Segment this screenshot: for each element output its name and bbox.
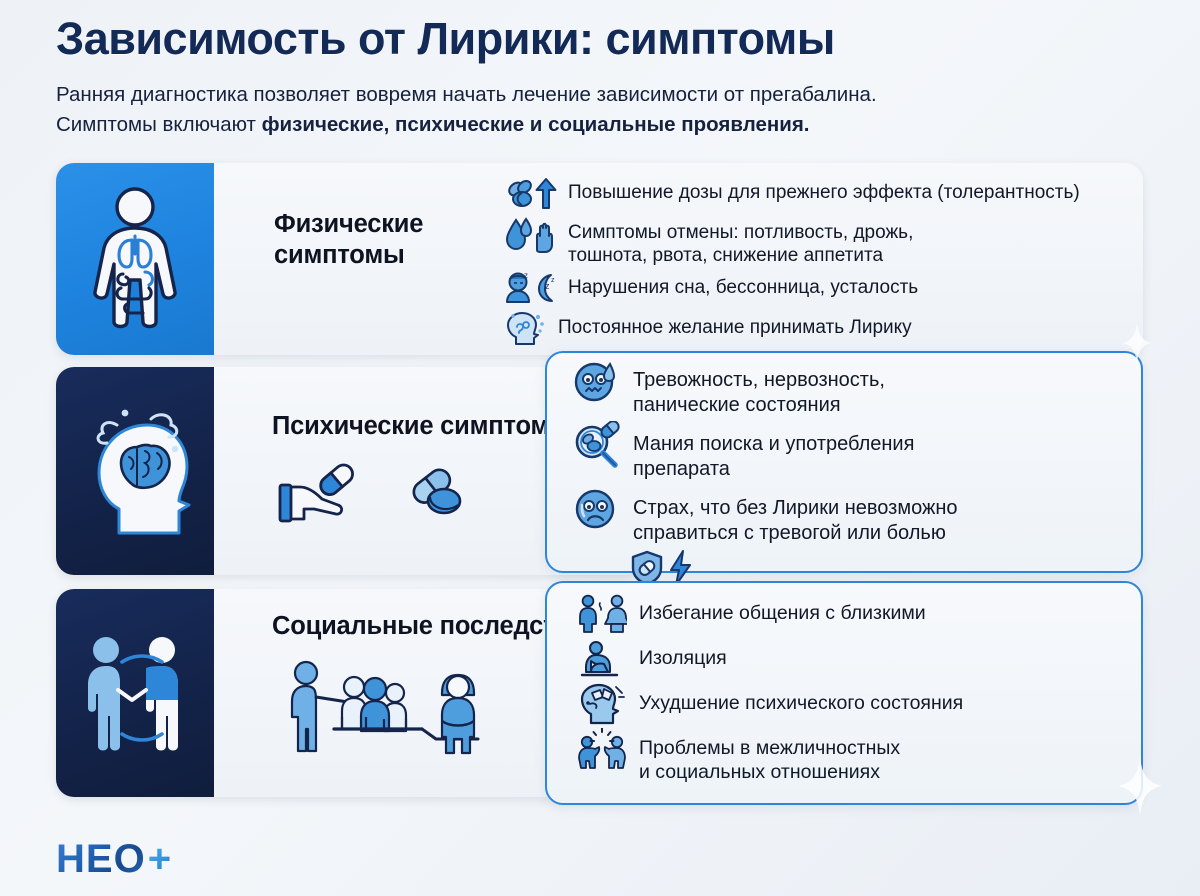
head-shattered-mind-icon (575, 685, 629, 723)
brand-logo: НЕО + (56, 837, 171, 882)
man-avoiding-woman-icon (575, 595, 629, 633)
list-item-text: Симптомы отмены: потливость, дрожь, тошн… (568, 215, 913, 269)
physical-heading-box: Физические симптомы (274, 209, 504, 271)
social-icon-panel (56, 589, 214, 797)
list-item: Симптомы отмены: потливость, дрожь, тошн… (504, 215, 1135, 269)
list-item-text: Изоляция (639, 640, 727, 670)
list-item-text: Избегание общения с близкими (639, 595, 926, 625)
mental-mini-icons (274, 459, 470, 530)
cards-container: Физические симптомы (0, 155, 1200, 815)
svg-text:z: z (545, 281, 550, 291)
physical-symptom-list: Повышение дозы для прежнего эффекта (тол… (504, 175, 1135, 351)
list-item: Страх, что без Лирики невозможно справит… (569, 490, 1127, 546)
two-people-conflict-icon (575, 730, 629, 768)
list-item: Ухудшение психического состояния (575, 685, 1127, 723)
person-sitting-alone-icon (575, 640, 629, 678)
list-item-text: Проблемы в межличностных и социальных от… (639, 730, 900, 785)
list-item-text: Мания поиска и употребления препарата (633, 426, 914, 482)
mental-heading: Психические симптомы (272, 411, 571, 442)
worried-face-icon (569, 490, 623, 528)
physical-heading: Физические симптомы (274, 209, 504, 271)
svg-text:z: z (551, 277, 555, 284)
list-item: Повышение дозы для прежнего эффекта (тол… (504, 175, 1135, 213)
mental-icon-panel (56, 367, 214, 575)
list-item: Избегание общения с близкими (575, 595, 1127, 633)
social-consequences-list-panel: Избегание общения с близкими Изоляция (545, 581, 1143, 805)
hand-with-capsule-icon (274, 459, 370, 530)
mental-symptom-list-panel: Тревожность, нервозность, панические сос… (545, 351, 1143, 573)
page-subtitle: Ранняя диагностика позволяет вовремя нач… (56, 80, 1144, 138)
list-item-text: Тревожность, нервозность, панические сос… (633, 362, 885, 418)
list-item: Проблемы в межличностных и социальных от… (575, 730, 1127, 785)
two-people-connection-icon (76, 628, 194, 758)
mental-heading-box: Психические симптомы (272, 411, 571, 442)
head-brain-icon (79, 401, 191, 541)
list-item-text: Ухудшение психического состояния (639, 685, 963, 715)
anxious-face-sweat-icon (569, 362, 623, 400)
list-item: Мания поиска и употребления препарата (569, 426, 1127, 482)
page-title: Зависимость от Лирики: симптомы (56, 14, 1144, 64)
list-item-text: Страх, что без Лирики невозможно справит… (633, 490, 958, 546)
logo-plus-icon: + (148, 837, 171, 882)
pills-cluster-icon (404, 463, 470, 526)
svg-text:z: z (524, 271, 528, 280)
logo-text: НЕО (56, 837, 146, 882)
head-craving-icon (504, 310, 548, 348)
header: Зависимость от Лирики: симптомы Ранняя д… (0, 0, 1200, 139)
magnifier-pills-icon (569, 426, 623, 464)
human-body-organs-icon (83, 184, 187, 334)
physical-body-panel: Физические симптомы (214, 163, 1143, 355)
pills-up-arrow-icon (504, 175, 558, 213)
list-item: Изоляция (575, 640, 1127, 678)
list-item: Тревожность, нервозность, панические сос… (569, 362, 1127, 418)
list-item-text: Нарушения сна, бессонница, усталость (568, 270, 918, 300)
sleeping-face-moon-icon: z z z (504, 270, 558, 308)
subtitle-prefix: Симптомы включают (56, 113, 262, 136)
list-item-text: Постоянное желание принимать Лирику (558, 310, 912, 340)
subtitle-bold: физические, психические и социальные про… (262, 113, 810, 136)
group-of-people-avoidance-icon (276, 748, 496, 765)
sweat-drops-trembling-hand-icon (504, 215, 558, 253)
list-item: z z z Нарушения сна, бессонница, усталос… (504, 270, 1135, 308)
list-item: Постоянное желание принимать Лирику (504, 310, 1135, 348)
card-physical-symptoms: Физические симптомы (56, 163, 1143, 355)
subtitle-line-1: Ранняя диагностика позволяет вовремя нач… (56, 80, 1144, 109)
subtitle-line-2: Симптомы включают физические, психически… (56, 110, 1144, 139)
social-mini-icons (276, 651, 496, 766)
physical-icon-panel (56, 163, 214, 355)
list-item-text: Повышение дозы для прежнего эффекта (тол… (568, 175, 1080, 205)
